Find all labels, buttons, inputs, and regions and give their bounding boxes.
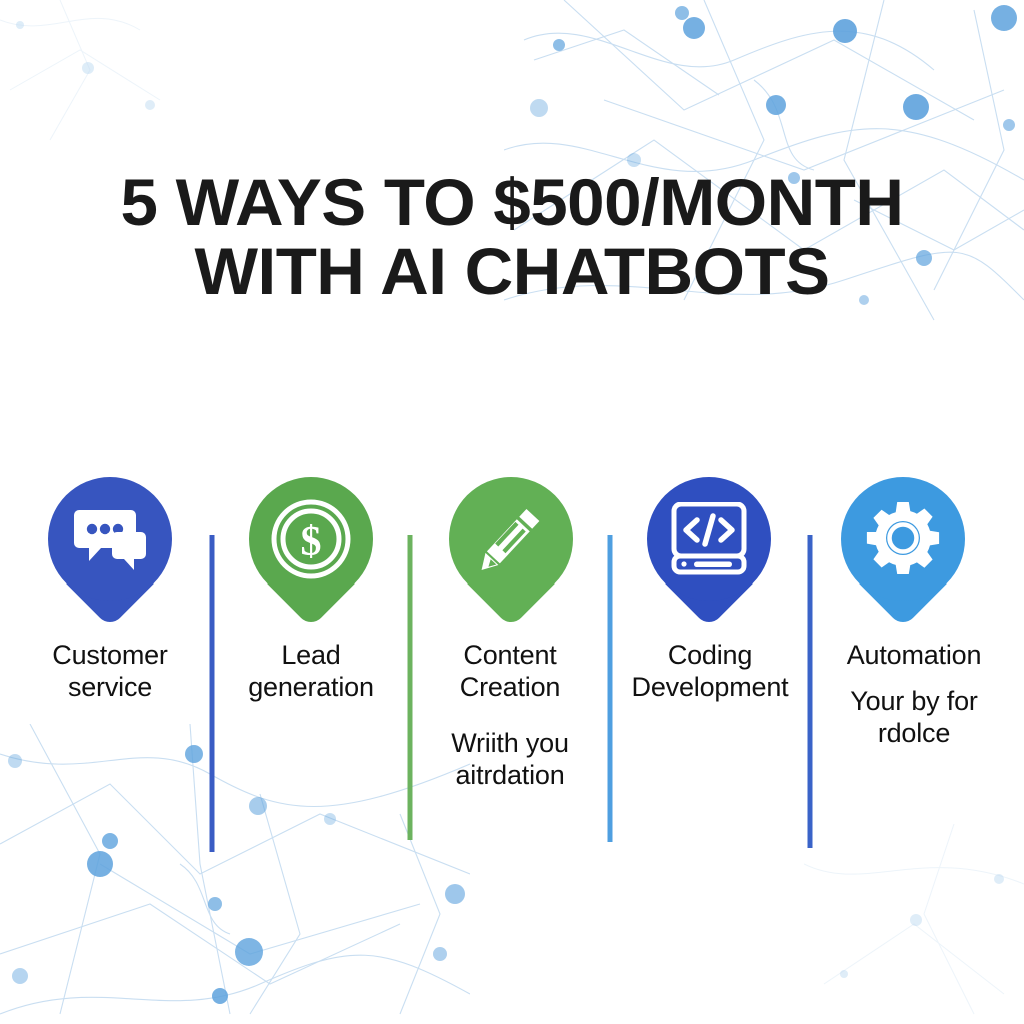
code-monitor-icon (647, 477, 771, 601)
chat-bubble-icon (48, 477, 172, 601)
step-label-4-line1: Coding (668, 640, 752, 670)
step-label-1-line1: Customer (52, 640, 167, 670)
step-label-4-line2: Development (632, 672, 789, 702)
step-label-4: Coding Development (614, 640, 806, 704)
step-label-2-line2: generation (248, 672, 374, 702)
infographic-canvas: 5 WAYS TO $500/MONTH WITH AI CHATBOTS (0, 0, 1024, 1024)
step-label-1: Customer service (12, 640, 208, 704)
timeline-pin-3[interactable] (449, 477, 573, 627)
step-label-2: Lead generation (216, 640, 406, 704)
step-sub-3: Wriith you aitrdation (414, 728, 606, 792)
step-sub-5: Your by for rdolce (816, 686, 1012, 750)
dollar-coin-icon: $ (249, 477, 373, 601)
step-label-3: Content Creation Wriith you aitrdation (414, 640, 606, 791)
gear-icon (841, 477, 965, 601)
timeline-pin-1[interactable] (48, 477, 172, 627)
step-label-3-line2: Creation (460, 672, 560, 702)
timeline-pin-4[interactable] (647, 477, 771, 627)
step-label-3-line1: Content (463, 640, 556, 670)
timeline-pin-2[interactable]: $ (249, 477, 373, 627)
timeline-pin-5[interactable] (841, 477, 965, 627)
svg-text:$: $ (301, 519, 322, 565)
pencil-icon (449, 477, 573, 601)
step-label-5-line1: Automation (847, 640, 982, 670)
step-label-2-line1: Lead (281, 640, 340, 670)
step-label-1-line2: service (68, 672, 152, 702)
step-label-5: Automation Your by for rdolce (816, 640, 1012, 750)
